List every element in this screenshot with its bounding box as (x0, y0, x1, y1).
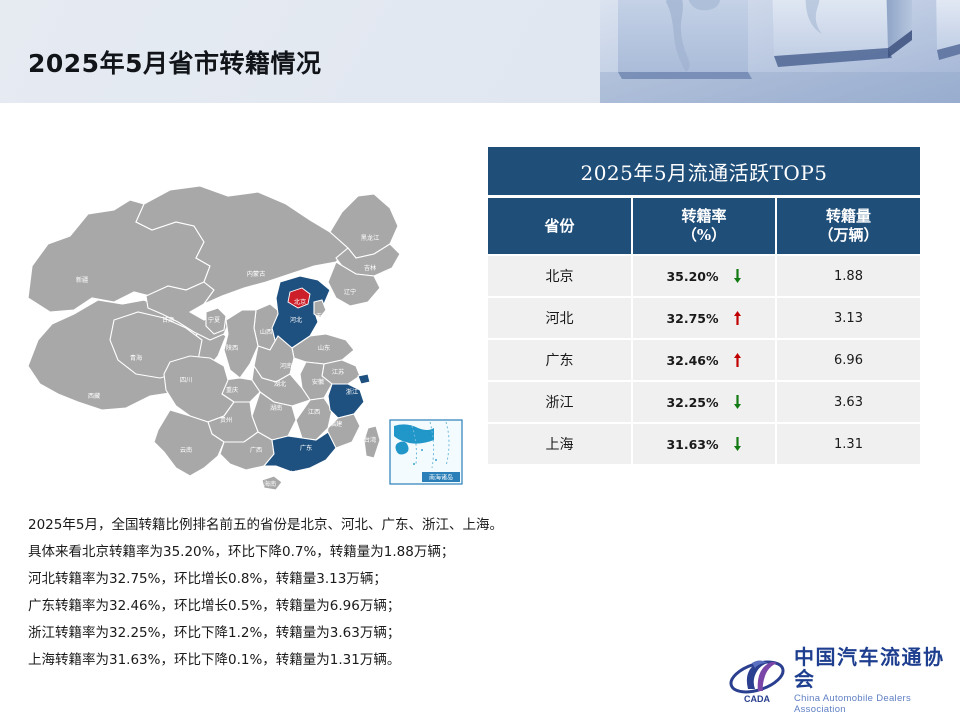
arrow-up-icon (733, 352, 742, 368)
inset-dot-1 (421, 449, 423, 451)
map-label-7: 西藏 (88, 392, 100, 400)
summary-line: 浙江转籍率为32.25%，环比下降1.2%，转籍量为3.63万辆； (28, 620, 628, 647)
map-label-25: 贵州 (220, 416, 232, 424)
table-row: 河北32.75%3.13 (488, 297, 920, 339)
map-label-26: 云南 (180, 446, 192, 454)
rate-wrapper: 35.20% (633, 268, 775, 284)
cell-volume: 3.13 (776, 297, 920, 339)
top5-table: 2025年5月流通活跃TOP5 省份 转籍率 （%） 转籍量 （万辆） 北京35… (488, 147, 920, 466)
inset-dot-3 (413, 463, 415, 465)
column-header-province: 省份 (488, 197, 632, 256)
map-label-29: 福建 (330, 420, 342, 428)
rate-value: 32.46% (666, 353, 718, 368)
map-label-2: 吉林 (364, 264, 376, 272)
map-label-8: 宁夏 (208, 316, 220, 324)
cell-volume: 1.31 (776, 423, 920, 465)
map-label-28: 广东 (300, 444, 312, 452)
map-label-1: 黑龙江 (361, 234, 380, 242)
column-header-province-line1: 省份 (488, 217, 631, 236)
cell-province: 河北 (488, 297, 632, 339)
map-label-21: 重庆 (226, 386, 238, 394)
map-label-3: 辽宁 (344, 288, 356, 296)
map-label-24: 浙江 (346, 388, 358, 396)
summary-text: 2025年5月，全国转籍比例排名前五的省份是北京、河北、广东、浙江、上海。具体来… (28, 512, 628, 674)
cell-rate: 32.46% (632, 339, 776, 381)
cell-volume: 1.88 (776, 255, 920, 297)
arrow-down-icon (733, 436, 742, 452)
map-label-14: 山东 (318, 344, 330, 352)
map-label-6: 青海 (130, 354, 142, 362)
table-row: 上海31.63%1.31 (488, 423, 920, 465)
rate-value: 31.63% (666, 437, 718, 452)
map-label-16: 江苏 (332, 368, 344, 376)
arrow-down-icon (733, 394, 742, 410)
summary-line: 河北转籍率为32.75%，环比增长0.8%，转籍量3.13万辆； (28, 566, 628, 593)
logo-name-en: China Automobile Dealers Association (794, 693, 946, 715)
inset-dot-2 (435, 459, 437, 461)
table-row: 广东32.46%6.96 (488, 339, 920, 381)
arrow-down-icon (733, 268, 742, 284)
summary-line: 2025年5月，全国转籍比例排名前五的省份是北京、河北、广东、浙江、上海。 (28, 512, 628, 539)
cubes-graphic (600, 0, 960, 103)
inset-label-text: 南海诸岛 (429, 474, 453, 482)
rate-value: 32.25% (666, 395, 718, 410)
map-label-23: 江西 (308, 409, 320, 416)
table-header-row: 省份 转籍率 （%） 转籍量 （万辆） (488, 197, 920, 256)
map-label-12: 北京 (294, 298, 306, 306)
rate-wrapper: 31.63% (633, 436, 775, 452)
page-title: 2025年5月省市转籍情况 (28, 44, 321, 80)
arrow-up-icon (733, 310, 742, 326)
map-label-19: 四川 (180, 377, 192, 384)
column-header-volume: 转籍量 （万辆） (776, 197, 920, 256)
map-label-13: 天津 (316, 312, 328, 320)
map-label-4: 内蒙古 (247, 270, 266, 278)
rate-wrapper: 32.25% (633, 394, 775, 410)
rate-wrapper: 32.75% (633, 310, 775, 326)
cada-emblem-icon: CADA (728, 655, 786, 705)
summary-line: 上海转籍率为31.63%，环比下降0.1%，转籍量为1.31万辆。 (28, 647, 628, 674)
header-band: 2025年5月省市转籍情况 (0, 0, 960, 103)
cada-mark-text: CADA (744, 694, 770, 704)
table-body: 北京35.20%1.88河北32.75%3.13广东32.46%6.96浙江32… (488, 255, 920, 465)
map-label-33: 澳门 (288, 470, 300, 478)
cell-rate: 32.25% (632, 381, 776, 423)
cell-province: 北京 (488, 255, 632, 297)
map-label-31: 海南 (264, 480, 276, 488)
province-shaanxi (224, 310, 258, 378)
cell-province: 浙江 (488, 381, 632, 423)
rate-value: 32.75% (666, 311, 718, 326)
map-label-5: 甘肃 (162, 316, 174, 324)
map-label-17: 安徽 (312, 378, 325, 386)
cell-province: 上海 (488, 423, 632, 465)
logo-text-block: 中国汽车流通协会 China Automobile Dealers Associ… (794, 646, 946, 715)
cell-rate: 35.20% (632, 255, 776, 297)
inset-island (396, 442, 409, 455)
south-china-sea-inset: 南海诸岛 (390, 420, 462, 484)
cell-province: 广东 (488, 339, 632, 381)
rate-wrapper: 32.46% (633, 352, 775, 368)
column-header-volume-line2: （万辆） (777, 226, 920, 245)
cell-rate: 32.75% (632, 297, 776, 339)
china-map: 新疆黑龙江吉林辽宁内蒙古甘肃青海西藏宁夏陕西山西河北北京天津山东河南江苏安徽上海… (18, 170, 470, 490)
map-label-22: 湖南 (270, 404, 282, 412)
table-row: 北京35.20%1.88 (488, 255, 920, 297)
rate-value: 35.20% (666, 269, 718, 284)
map-label-27: 广西 (250, 446, 262, 454)
map-label-15: 河南 (280, 362, 292, 370)
map-label-11: 河北 (290, 316, 303, 324)
cell-volume: 6.96 (776, 339, 920, 381)
map-label-9: 陕西 (226, 344, 238, 352)
organization-logo: CADA 中国汽车流通协会 China Automobile Dealers A… (728, 652, 946, 708)
column-header-rate-line1: 转籍率 (633, 207, 775, 226)
header-decoration-cubes (600, 0, 960, 103)
column-header-rate: 转籍率 （%） (632, 197, 776, 256)
map-label-18: 上海 (360, 362, 372, 370)
map-label-30: 台湾 (364, 436, 376, 444)
summary-line: 具体来看北京转籍率为35.20%，环比下降0.7%，转籍量为1.88万辆； (28, 539, 628, 566)
cell-volume: 3.63 (776, 381, 920, 423)
column-header-rate-line2: （%） (633, 226, 775, 245)
map-label-34: 钓鱼岛 (387, 402, 406, 410)
logo-name-cn: 中国汽车流通协会 (794, 646, 946, 690)
column-header-volume-line1: 转籍量 (777, 207, 920, 226)
china-map-svg: 新疆黑龙江吉林辽宁内蒙古甘肃青海西藏宁夏陕西山西河北北京天津山东河南江苏安徽上海… (18, 170, 470, 490)
cell-rate: 31.63% (632, 423, 776, 465)
province-shanghai-highlight (358, 374, 370, 384)
map-label-10: 山西 (260, 328, 272, 336)
table-row: 浙江32.25%3.63 (488, 381, 920, 423)
map-label-20: 湖北 (274, 380, 287, 388)
summary-line: 广东转籍率为32.46%，环比增长0.5%，转籍量为6.96万辆； (28, 593, 628, 620)
map-label-0: 新疆 (76, 276, 88, 284)
table-title: 2025年5月流通活跃TOP5 (488, 147, 920, 197)
table-title-row: 2025年5月流通活跃TOP5 (488, 147, 920, 197)
map-label-32: 香港 (322, 464, 335, 472)
